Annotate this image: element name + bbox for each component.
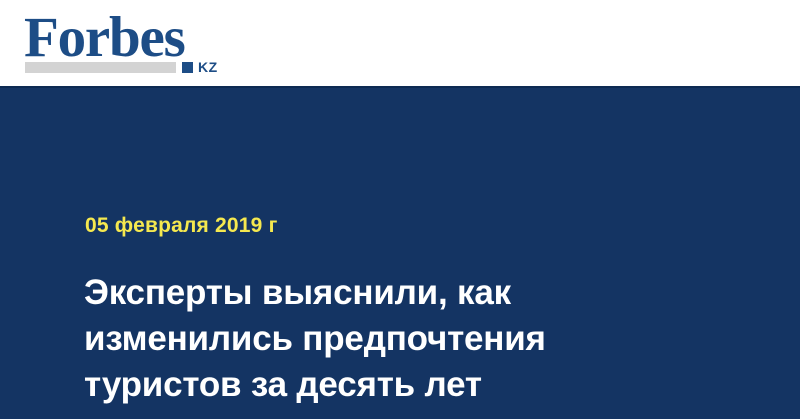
- headline-line: туристов за десять лет: [84, 362, 644, 408]
- headline-line: Эксперты выяснили, как: [84, 270, 644, 316]
- headline-line: изменились предпочтения: [84, 316, 644, 362]
- hero-banner: 05 февраля 2019 г Эксперты выяснили, как…: [0, 86, 800, 419]
- publish-date: 05 февраля 2019 г: [85, 214, 278, 238]
- logo-wordmark: Forbes: [24, 9, 185, 66]
- logo-underbar: [25, 62, 176, 73]
- forbes-kz-logo[interactable]: Forbes KZ: [24, 9, 224, 77]
- logo-square-icon: [182, 62, 193, 73]
- site-header: Forbes KZ: [0, 0, 800, 86]
- logo-country-code: KZ: [198, 60, 218, 74]
- article-headline: Эксперты выяснили, как изменились предпо…: [84, 270, 644, 408]
- article-hero-card: Forbes KZ 05 февраля 2019 г Эксперты выя…: [0, 0, 800, 419]
